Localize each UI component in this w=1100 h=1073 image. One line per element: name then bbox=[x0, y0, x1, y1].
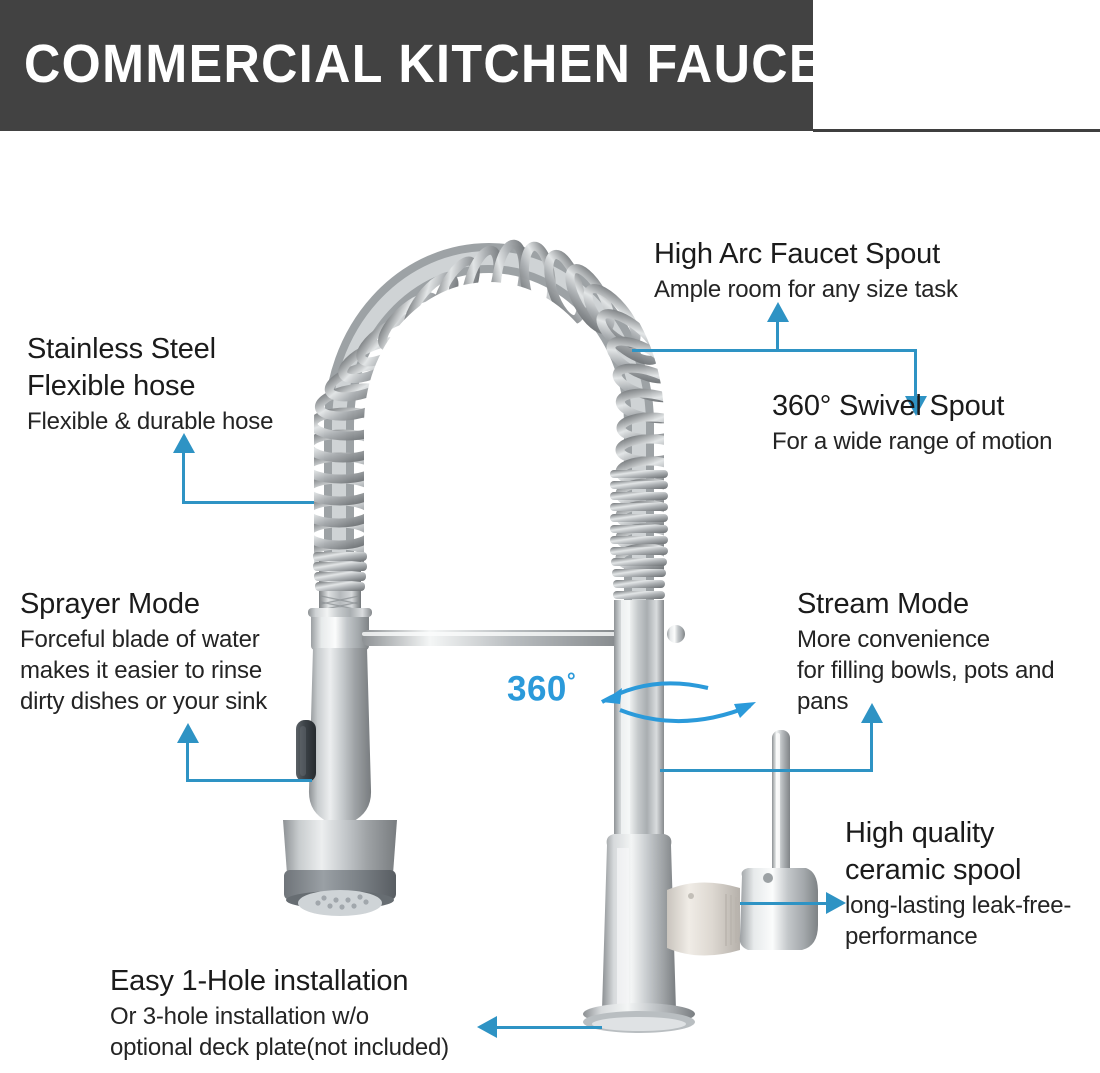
connector-line-sprayer-h bbox=[186, 779, 312, 782]
rotation-badge-value: 360 bbox=[507, 670, 567, 709]
faucet-body-base bbox=[583, 834, 695, 1033]
callout-title: Sprayer Mode bbox=[20, 586, 350, 623]
ceramic-spool-valve bbox=[667, 882, 740, 955]
connector-line-high-arc-trunk bbox=[632, 349, 917, 352]
connector-line-high-arc-up bbox=[776, 320, 779, 351]
header-divider-rule bbox=[813, 129, 1100, 132]
callout-subtitle: Flexible & durable hose bbox=[27, 406, 357, 437]
connector-line-stream-v bbox=[870, 722, 873, 772]
riser-pivot-screw bbox=[667, 625, 685, 643]
callout-subtitle: For a wide range of motion bbox=[772, 426, 1100, 457]
connector-arrow-high-arc bbox=[767, 302, 789, 322]
connector-line-ceramic bbox=[740, 902, 828, 905]
connector-arrow-sprayer bbox=[177, 723, 199, 743]
callout-subtitle: Forceful blade of water makes it easier … bbox=[20, 624, 350, 717]
infographic-page: COMMERCIAL KITCHEN FAUCET bbox=[0, 0, 1100, 1073]
connector-line-hose-v bbox=[182, 452, 185, 504]
callout-subtitle: long-lasting leak-free- performance bbox=[845, 890, 1100, 952]
callout-ceramic-spool: High quality ceramic spool long-lasting … bbox=[845, 815, 1100, 952]
rotation-badge-360: 360° bbox=[507, 668, 576, 710]
callout-one-hole-installation: Easy 1-Hole installation Or 3-hole insta… bbox=[110, 963, 560, 1063]
callout-stainless-steel-flexible-hose: Stainless Steel Flexible hose Flexible &… bbox=[27, 331, 357, 437]
connector-line-hose-h bbox=[182, 501, 314, 504]
callout-swivel-spout: 360° Swivel Spout For a wide range of mo… bbox=[772, 388, 1100, 457]
callout-title: 360° Swivel Spout bbox=[772, 388, 1100, 425]
callout-high-arc-faucet-spout: High Arc Faucet Spout Ample room for any… bbox=[654, 236, 1074, 305]
callout-title: High quality ceramic spool bbox=[845, 815, 1100, 889]
faucet-riser-column bbox=[610, 470, 685, 850]
callout-title: Stainless Steel Flexible hose bbox=[27, 331, 357, 405]
callout-subtitle: Ample room for any size task bbox=[654, 274, 1074, 305]
callout-subtitle: Or 3-hole installation w/o optional deck… bbox=[110, 1001, 560, 1063]
callout-title: Easy 1-Hole installation bbox=[110, 963, 560, 1000]
spray-mode-toggle-button bbox=[296, 720, 316, 782]
callout-subtitle: More convenience for filling bowls, pots… bbox=[797, 624, 1097, 717]
page-title: COMMERCIAL KITCHEN FAUCET bbox=[24, 32, 759, 96]
connector-line-sprayer-v bbox=[186, 742, 189, 782]
lever-handle bbox=[740, 730, 818, 950]
callout-title: Stream Mode bbox=[797, 586, 1097, 623]
spout-arm bbox=[362, 630, 634, 646]
degree-symbol-icon: ° bbox=[567, 668, 576, 693]
callout-title: High Arc Faucet Spout bbox=[654, 236, 1074, 273]
connector-arrow-ceramic bbox=[826, 892, 846, 914]
spring-coil-arch bbox=[307, 243, 683, 630]
callout-sprayer-mode: Sprayer Mode Forceful blade of water mak… bbox=[20, 586, 350, 717]
connector-line-stream-h bbox=[660, 769, 873, 772]
callout-stream-mode: Stream Mode More convenience for filling… bbox=[797, 586, 1097, 717]
rotation-arrows-icon bbox=[590, 668, 770, 730]
riser-coil-sleeve bbox=[610, 470, 668, 599]
